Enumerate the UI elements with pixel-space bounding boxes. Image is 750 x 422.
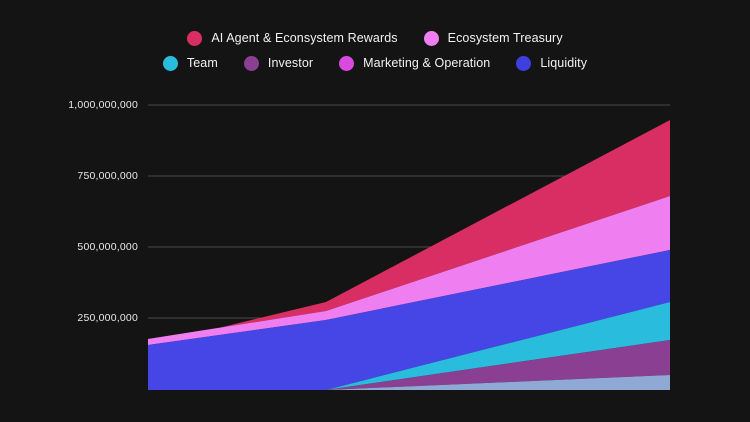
area-series-group — [148, 120, 670, 390]
chart-screen: AI Agent & Econsystem Rewards Ecosystem … — [0, 0, 750, 422]
stacked-area-chart — [0, 0, 750, 422]
plot-area: 1,000,000,000 750,000,000 500,000,000 25… — [0, 0, 750, 422]
